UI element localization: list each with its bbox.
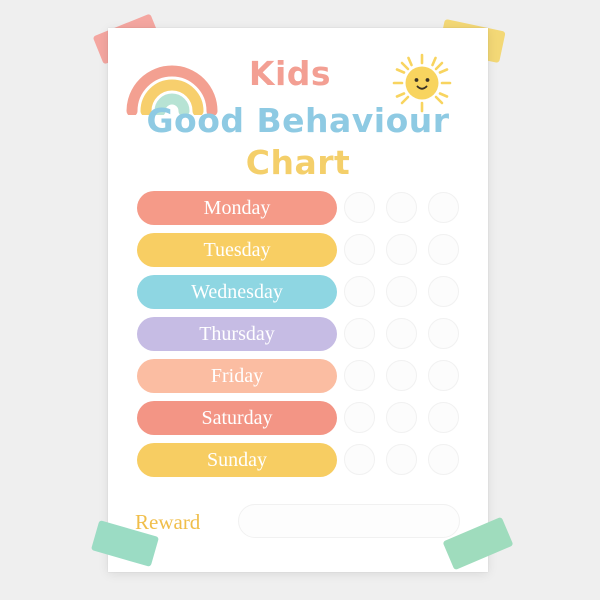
stamp-circle[interactable] — [386, 444, 417, 475]
day-pill-saturday[interactable]: Saturday — [137, 401, 337, 435]
day-pill-sunday[interactable]: Sunday — [137, 443, 337, 477]
poster-canvas: Kids Good Behaviour Chart MondayTuesdayW… — [0, 0, 600, 600]
stamp-group — [342, 444, 482, 476]
stamp-circle[interactable] — [386, 192, 417, 223]
stamp-circle[interactable] — [386, 318, 417, 349]
stamp-circle[interactable] — [344, 444, 375, 475]
day-row: Thursday — [108, 317, 488, 351]
stamp-circle[interactable] — [428, 192, 459, 223]
stamp-circle[interactable] — [428, 402, 459, 433]
reward-row: Reward — [108, 504, 488, 544]
stamp-circle[interactable] — [386, 402, 417, 433]
stamp-circle[interactable] — [386, 360, 417, 391]
stamp-circle[interactable] — [386, 276, 417, 307]
day-row: Saturday — [108, 401, 488, 435]
title-line-good-behaviour: Good Behaviour — [108, 101, 488, 140]
day-pill-monday[interactable]: Monday — [137, 191, 337, 225]
stamp-group — [342, 234, 482, 266]
stamp-group — [342, 402, 482, 434]
stamp-circle[interactable] — [344, 192, 375, 223]
stamp-group — [342, 318, 482, 350]
day-pill-thursday[interactable]: Thursday — [137, 317, 337, 351]
day-pill-wednesday[interactable]: Wednesday — [137, 275, 337, 309]
stamp-circle[interactable] — [428, 360, 459, 391]
stamp-circle[interactable] — [344, 402, 375, 433]
day-row: Sunday — [108, 443, 488, 477]
day-row: Friday — [108, 359, 488, 393]
stamp-circle[interactable] — [386, 234, 417, 265]
stamp-circle[interactable] — [428, 444, 459, 475]
day-pill-friday[interactable]: Friday — [137, 359, 337, 393]
stamp-group — [342, 360, 482, 392]
day-row: Wednesday — [108, 275, 488, 309]
day-row: Monday — [108, 191, 488, 225]
stamp-circle[interactable] — [344, 234, 375, 265]
day-pill-tuesday[interactable]: Tuesday — [137, 233, 337, 267]
stamp-circle[interactable] — [428, 318, 459, 349]
stamp-group — [342, 192, 482, 224]
behaviour-chart-card: Kids Good Behaviour Chart MondayTuesdayW… — [108, 28, 488, 572]
day-rows-container: MondayTuesdayWednesdayThursdayFridaySatu… — [108, 191, 488, 485]
chart-header: Kids Good Behaviour Chart — [108, 28, 488, 188]
title-line-kids: Kids — [140, 54, 440, 93]
stamp-circle[interactable] — [344, 318, 375, 349]
reward-input[interactable] — [238, 504, 460, 538]
title-line-chart: Chart — [108, 143, 488, 182]
stamp-circle[interactable] — [344, 276, 375, 307]
stamp-group — [342, 276, 482, 308]
stamp-circle[interactable] — [344, 360, 375, 391]
stamp-circle[interactable] — [428, 234, 459, 265]
day-row: Tuesday — [108, 233, 488, 267]
stamp-circle[interactable] — [428, 276, 459, 307]
reward-label: Reward — [135, 510, 200, 535]
